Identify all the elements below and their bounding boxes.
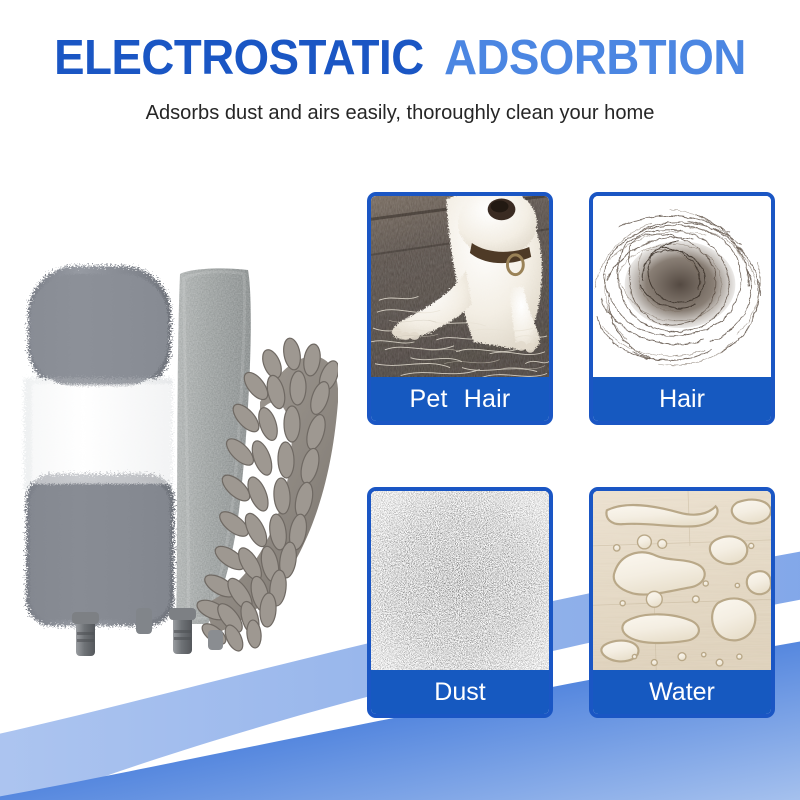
photo-pet-hair [371,196,549,377]
product-image-dusters [8,252,338,662]
page-subtitle: Adsorbs dust and airs easily, thoroughly… [8,101,792,125]
photo-hair [593,196,771,377]
infographic-canvas: ELECTROSTATICADSORBTION Adsorbs dust and… [0,0,800,800]
photo-dust [371,491,549,670]
duster-handle-back [136,608,152,634]
panel-caption-water: Water [593,670,771,714]
duster-striped [24,266,174,656]
feature-panel-dust[interactable]: Dust [367,487,553,718]
duster-handle [208,630,223,650]
panel-caption-hair: Hair [593,377,771,421]
duster-handle [169,608,196,654]
feature-panel-water[interactable]: Water [589,487,775,718]
page-title: ELECTROSTATICADSORBTION [28,33,772,83]
feature-panel-pet-hair[interactable]: Pet Hair [367,192,553,425]
feature-panel-hair[interactable]: Hair [589,192,775,425]
header: ELECTROSTATICADSORBTION [0,33,800,83]
panel-caption-dust: Dust [371,670,549,714]
duster-handle [72,612,99,656]
title-word-adsorbtion: ADSORBTION [444,31,746,85]
subtitle-row: Adsorbs dust and airs easily, thoroughly… [0,101,800,125]
title-word-electrostatic: ELECTROSTATIC [54,31,423,85]
photo-water [593,491,771,670]
panel-caption-pet-hair: Pet Hair [371,377,549,421]
